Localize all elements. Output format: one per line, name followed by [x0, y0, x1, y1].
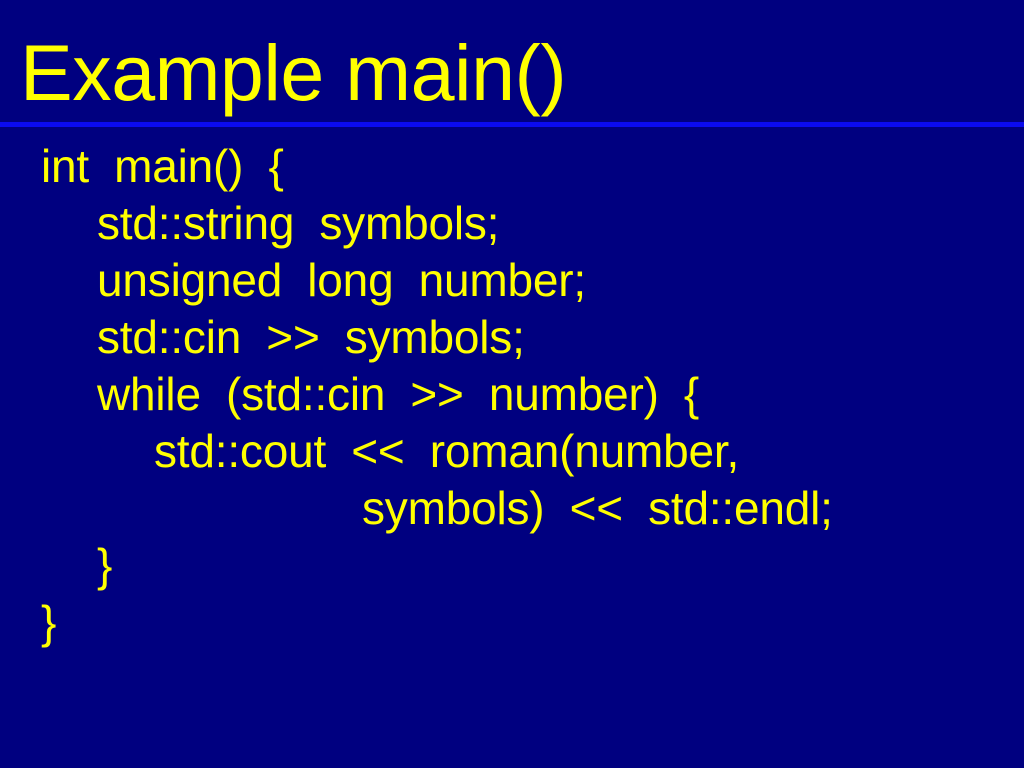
code-line: std::string symbols; — [0, 195, 1024, 252]
code-line: int main() { — [0, 138, 1024, 195]
code-line: std::cin >> symbols; — [0, 309, 1024, 366]
code-line: std::cout << roman(number, — [0, 423, 1024, 480]
code-block: int main() {std::string symbols;unsigned… — [0, 138, 1024, 651]
code-line: symbols) << std::endl; — [0, 480, 1024, 537]
code-line: unsigned long number; — [0, 252, 1024, 309]
title-divider — [0, 122, 1024, 127]
presentation-slide: Example main() int main() {std::string s… — [0, 0, 1024, 768]
page-title: Example main() — [20, 29, 1004, 117]
code-line: } — [0, 594, 1024, 651]
code-line: while (std::cin >> number) { — [0, 366, 1024, 423]
code-line: } — [0, 537, 1024, 594]
